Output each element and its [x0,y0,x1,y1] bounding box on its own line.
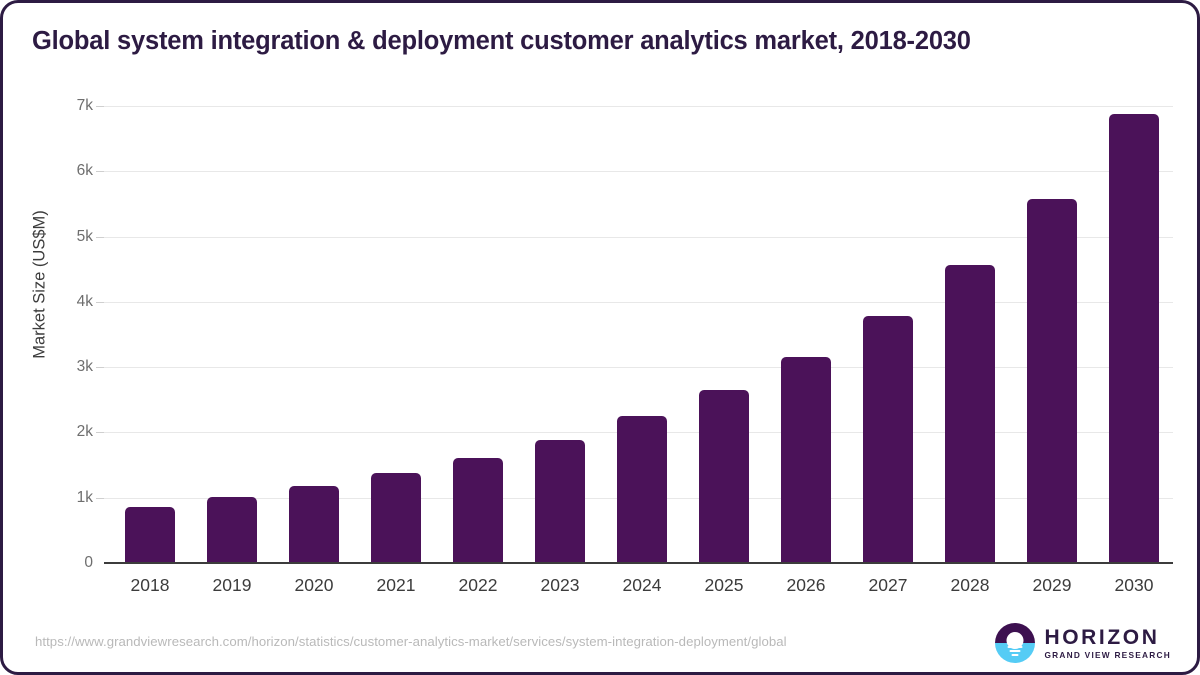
logo-text: HORIZON GRAND VIEW RESEARCH [1044,627,1171,659]
plot-area [104,106,1173,563]
y-axis-tick-label: 5k [77,228,93,246]
y-axis-tick-mark [96,237,104,238]
y-axis-tick-mark [96,432,104,433]
y-axis-tick-label: 1k [77,489,93,507]
x-axis-tick-label: 2024 [601,575,683,596]
horizon-line-icon [1010,650,1021,652]
gridline [104,237,1173,238]
x-axis-tick-label: 2020 [273,575,355,596]
gridline [104,302,1173,303]
bar[interactable] [371,473,421,563]
x-axis-tick-label: 2018 [109,575,191,596]
y-axis-tick-mark [96,106,104,107]
bar[interactable] [617,416,667,563]
y-axis-tick-label: 3k [77,358,93,376]
y-axis-tick-label: 2k [77,423,93,441]
bar[interactable] [289,486,339,563]
y-axis-tick-label: 4k [77,293,93,311]
x-axis-tick-label: 2028 [929,575,1011,596]
y-axis-tick-label: 0 [84,554,93,572]
bar[interactable] [125,507,175,563]
bar[interactable] [945,265,995,563]
x-axis-tick-label: 2026 [765,575,847,596]
source-url[interactable]: https://www.grandviewresearch.com/horizo… [35,634,787,649]
x-axis-tick-label: 2027 [847,575,929,596]
x-axis-tick-label: 2019 [191,575,273,596]
horizon-line-icon [1008,646,1023,648]
bar[interactable] [699,390,749,563]
y-axis-tick-mark [96,367,104,368]
y-axis-title: Market Size (US$M) [31,120,50,450]
x-axis-tick-label: 2029 [1011,575,1093,596]
logo-tagline: GRAND VIEW RESEARCH [1044,651,1171,659]
bar[interactable] [781,357,831,563]
horizon-circle-icon [995,623,1035,663]
x-axis-tick-label: 2021 [355,575,437,596]
bar[interactable] [863,316,913,563]
x-axis-line [104,562,1173,564]
y-axis-tick-mark [96,302,104,303]
bar[interactable] [1027,199,1077,563]
gridline [104,106,1173,107]
bar[interactable] [207,497,257,563]
horizon-line-icon [1012,654,1019,656]
page-title: Global system integration & deployment c… [32,27,971,56]
horizon-logo[interactable]: HORIZON GRAND VIEW RESEARCH [995,622,1171,664]
chart-canvas: Global system integration & deployment c… [0,0,1200,675]
gridline [104,171,1173,172]
x-axis-tick-label: 2025 [683,575,765,596]
y-axis-tick-label: 7k [77,97,93,115]
gridline [104,367,1173,368]
x-axis-tick-label: 2022 [437,575,519,596]
y-axis-tick-mark [96,498,104,499]
logo-wordmark: HORIZON [1044,627,1171,648]
bar[interactable] [535,440,585,563]
bar[interactable] [453,458,503,563]
bar[interactable] [1109,114,1159,563]
y-axis-tick-mark [96,171,104,172]
y-axis-tick-label: 6k [77,162,93,180]
x-axis-tick-label: 2023 [519,575,601,596]
x-axis-tick-label: 2030 [1093,575,1175,596]
